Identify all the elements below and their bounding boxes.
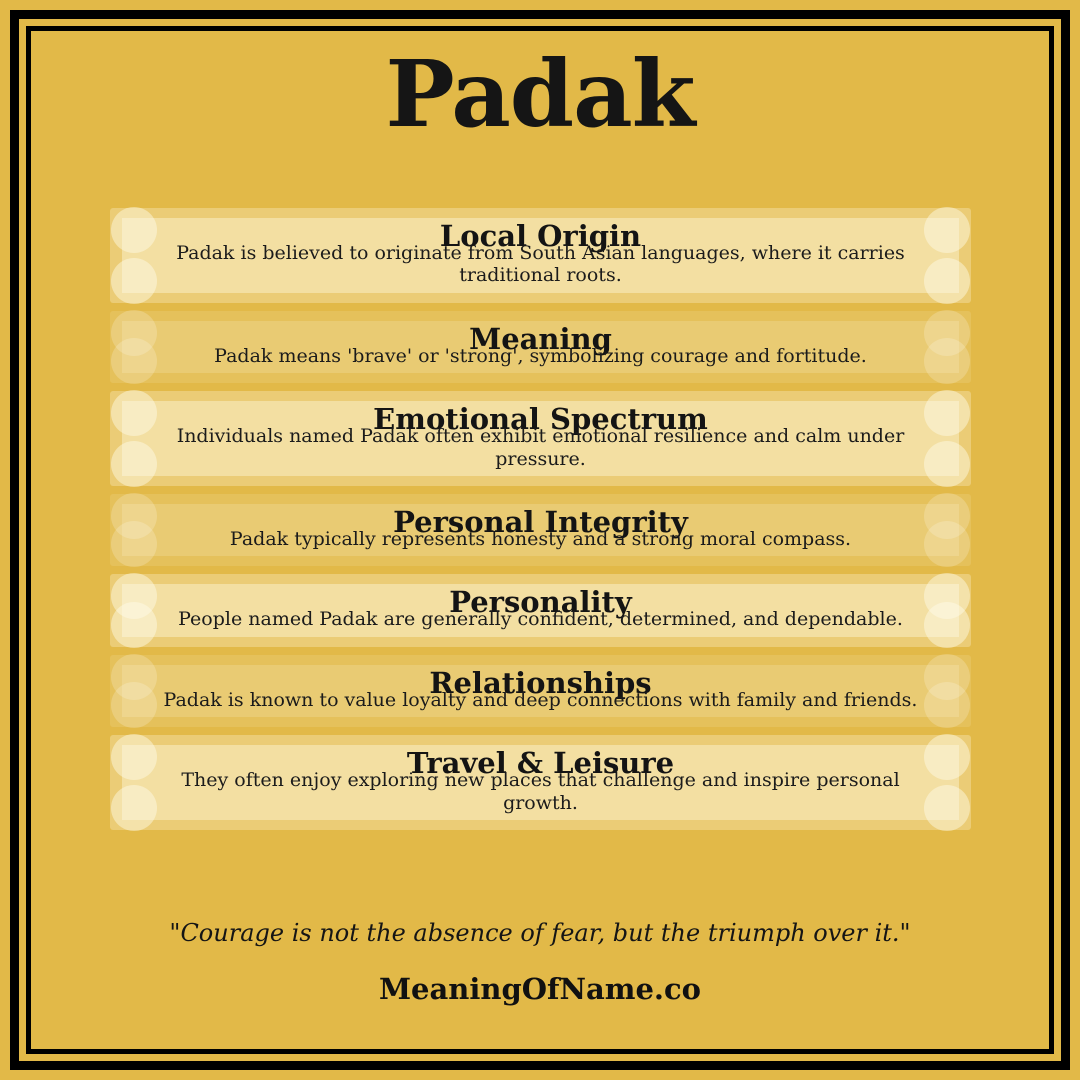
card-body: Local OriginPadak is believed to origina… [110,208,971,303]
footer: "Courage is not the absence of fear, but… [31,919,1049,1006]
card-description: Padak is known to value loyalty and deep… [110,689,971,727]
section-card: Travel & LeisureThey often enjoy explori… [110,735,971,830]
card-description: Individuals named Padak often exhibit em… [110,425,971,486]
page-content: Padak Local OriginPadak is believed to o… [31,31,1049,1049]
page-title: Padak [31,48,1049,140]
card-body: Emotional SpectrumIndividuals named Pada… [110,391,971,486]
section-card: RelationshipsPadak is known to value loy… [110,655,971,727]
section-card: PersonalityPeople named Padak are genera… [110,574,971,646]
section-card: Local OriginPadak is believed to origina… [110,208,971,303]
card-body: RelationshipsPadak is known to value loy… [110,655,971,727]
card-description: Padak typically represents honesty and a… [110,528,971,566]
footer-brand: MeaningOfName.co [31,972,1049,1006]
section-card-list: Local OriginPadak is believed to origina… [110,208,971,838]
section-card: Personal IntegrityPadak typically repres… [110,494,971,566]
card-description: Padak means 'brave' or 'strong', symboli… [110,345,971,383]
card-body: Travel & LeisureThey often enjoy explori… [110,735,971,830]
section-card: MeaningPadak means 'brave' or 'strong', … [110,311,971,383]
card-description: They often enjoy exploring new places th… [110,769,971,830]
card-description: People named Padak are generally confide… [110,608,971,646]
card-body: PersonalityPeople named Padak are genera… [110,574,971,646]
card-description: Padak is believed to originate from Sout… [110,242,971,303]
card-body: Personal IntegrityPadak typically repres… [110,494,971,566]
footer-quote: "Courage is not the absence of fear, but… [31,919,1049,948]
card-body: MeaningPadak means 'brave' or 'strong', … [110,311,971,383]
section-card: Emotional SpectrumIndividuals named Pada… [110,391,971,486]
